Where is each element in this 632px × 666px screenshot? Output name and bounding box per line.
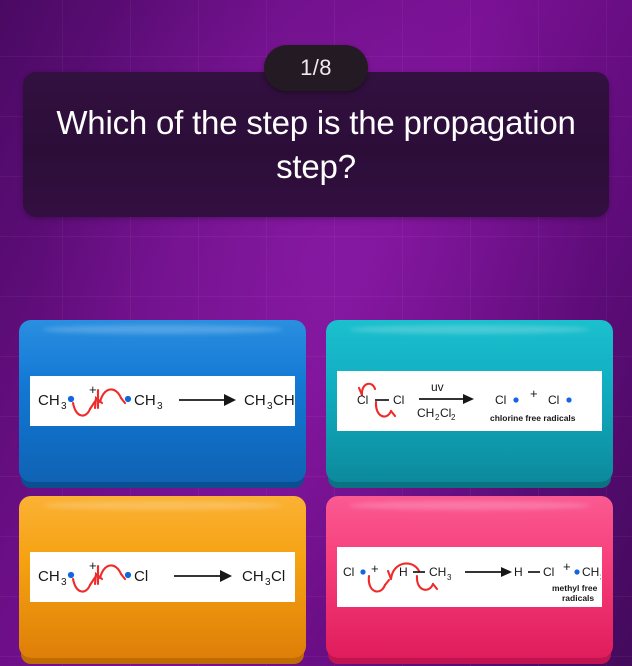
fishhook-arrow-icon: [100, 389, 121, 402]
product-plus-d: +: [563, 559, 571, 574]
radical-dot-icon: [124, 396, 130, 402]
question-card: Which of the step is the propagation ste…: [23, 72, 609, 217]
radical-dot-icon: [574, 569, 579, 574]
formula-cl-left: Cl: [357, 393, 368, 407]
progress-badge: 1/8: [264, 45, 368, 91]
product-h-d: H: [514, 565, 523, 579]
fishhook-arrow-icon: [73, 579, 90, 592]
fishhook-arrow-icon: [100, 565, 121, 578]
formula-ch3-right-sub: 3: [157, 401, 163, 412]
fishhook-head-icon: [388, 571, 391, 579]
radical-dot-icon: [566, 397, 571, 402]
fishhook-arrow-icon: [368, 576, 384, 591]
radical-dot-icon: [513, 397, 518, 402]
answer-option-d[interactable]: Cl + H CH 3 H: [326, 496, 613, 658]
answer-option-a[interactable]: CH3 CH 3 + CH 3 C: [19, 320, 306, 482]
fishhook-arrow-icon: [375, 402, 390, 417]
formula-ch3-left-sub: 3: [61, 401, 67, 412]
product-cl-left: Cl: [495, 393, 506, 407]
reaction-diagram-c: CH 3 + Cl CH 3 Cl: [30, 552, 295, 602]
fishhook-arrow-icon: [73, 403, 90, 416]
plus-sign-b: +: [530, 386, 538, 401]
reaction-svg-c: CH 3 + Cl CH 3 Cl: [32, 554, 294, 600]
formula-ch3-left-render: CH: [38, 392, 60, 409]
fishhook-arrow-icon: [121, 574, 125, 579]
reaction-svg-d: Cl + H CH 3 H: [339, 549, 601, 605]
product-ch3-d-render: CH: [582, 565, 599, 579]
reaction-arrow-head-icon: [224, 394, 236, 406]
product-formula-c-p2: Cl: [271, 568, 285, 585]
radical-dot-icon: [124, 572, 130, 578]
reaction-diagram-d: Cl + H CH 3 H: [337, 547, 602, 607]
reaction-diagram-b: Cl Cl uv CH 2 Cl 2 Cl + Cl: [337, 371, 602, 431]
reaction-arrow-head-icon: [463, 394, 474, 404]
radical-dot-icon: [67, 396, 73, 402]
condition-below-p1: CH: [417, 406, 434, 420]
condition-below-s2: 2: [451, 413, 456, 422]
product-cl-right: Cl: [548, 393, 559, 407]
formula-cl-left-d: Cl: [343, 565, 354, 579]
reaction-caption-d-line1: methyl free: [552, 583, 598, 593]
fishhook-arrow-icon: [121, 398, 125, 403]
fishhook-head-icon: [385, 580, 389, 585]
reaction-caption-d-line2: radicals: [562, 593, 594, 603]
reaction-caption-b: chlorine free radicals: [490, 413, 576, 423]
answer-option-c[interactable]: CH 3 + Cl CH 3 Cl: [19, 496, 306, 658]
formula-ch3-left-render-c: CH: [38, 568, 60, 585]
fishhook-head-icon: [391, 411, 395, 416]
condition-above: uv: [431, 380, 444, 394]
reaction-svg-b: Cl Cl uv CH 2 Cl 2 Cl + Cl: [339, 373, 601, 429]
radical-dot-icon: [67, 572, 73, 578]
reaction-svg-a: CH3 CH 3 + CH 3 C: [32, 378, 294, 424]
formula-ch3-d-render: CH: [429, 565, 446, 579]
product-ch3-d-sub: 3: [600, 573, 601, 582]
product-formula-a-p1: CH: [244, 392, 266, 409]
condition-below-p2: Cl: [440, 406, 451, 420]
formula-cl-right: Cl: [393, 393, 404, 407]
plus-sign-d: +: [371, 561, 379, 576]
product-cl-d: Cl: [543, 565, 554, 579]
formula-ch3-d-sub: 3: [447, 573, 452, 582]
reaction-arrow-head-icon: [501, 567, 512, 577]
plus-sign-a: +: [89, 382, 97, 397]
formula-ch3-left-sub-c: 3: [61, 577, 67, 588]
formula-ch3-right-render: CH: [134, 392, 156, 409]
answer-option-b[interactable]: Cl Cl uv CH 2 Cl 2 Cl + Cl: [326, 320, 613, 482]
formula-h-d: H: [399, 565, 408, 579]
formula-cl-right-c: Cl: [134, 568, 148, 585]
fishhook-head-icon: [433, 584, 437, 589]
question-text: Which of the step is the propagation ste…: [23, 101, 609, 189]
radical-dot-icon: [360, 569, 365, 574]
plus-sign-c: +: [89, 558, 97, 573]
reaction-arrow-head-icon: [220, 570, 232, 582]
reaction-diagram-a: CH3 CH 3 + CH 3 C: [30, 376, 295, 426]
answers-grid: CH3 CH 3 + CH 3 C: [19, 320, 613, 658]
product-formula-c-p1: CH: [242, 568, 264, 585]
product-formula-a-p2: CH: [273, 392, 294, 409]
